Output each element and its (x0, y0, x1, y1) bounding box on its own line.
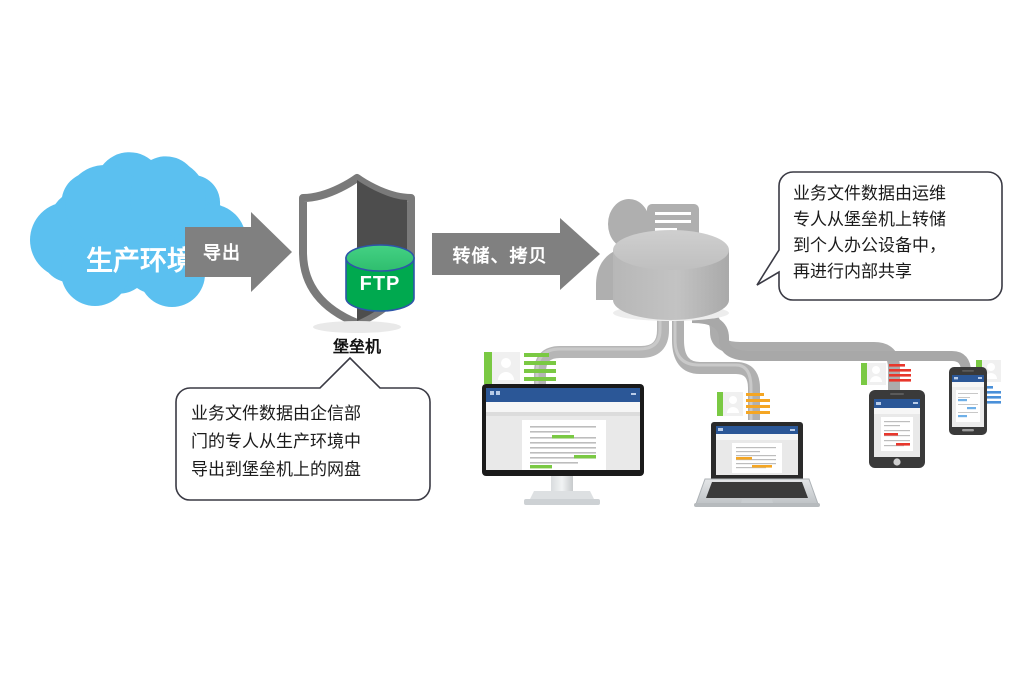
ftp-cylinder: FTP (346, 245, 414, 311)
bastion-host-group: FTP 堡垒机 (303, 178, 414, 356)
callout-export-line-3: 导出到堡垒机上的网盘 (191, 460, 361, 479)
callout-share-line-2: 专人从堡垒机上转储 (793, 210, 946, 229)
callout-export: 业务文件数据由企信部 门的专人从生产环境中 导出到堡垒机上的网盘 (176, 358, 430, 500)
cloud-label: 生产环境 (86, 246, 194, 276)
diagram-canvas: 生产环境 导出 FTP 堡垒机 转储、拷贝 (0, 0, 1015, 675)
smartphone (949, 360, 1001, 435)
callout-share-line-3: 到个人办公设备中， (793, 236, 946, 255)
export-arrow-label: 导出 (203, 242, 241, 263)
desktop-monitor (482, 352, 644, 505)
contact-card-icon-red (861, 363, 911, 385)
callout-share-line-1: 业务文件数据由运维 (793, 184, 946, 203)
transfer-arrow: 转储、拷贝 (432, 218, 600, 290)
bastion-host-label: 堡垒机 (333, 337, 381, 356)
callout-share-line-4: 再进行内部共享 (793, 262, 912, 281)
callout-export-line-2: 门的专人从生产环境中 (191, 432, 361, 451)
callout-export-line-1: 业务文件数据由企信部 (191, 404, 361, 423)
share-hub-cylinder (613, 230, 729, 321)
transfer-arrow-label: 转储、拷贝 (453, 245, 548, 266)
callout-share: 业务文件数据由运维 专人从堡垒机上转储 到个人办公设备中， 再进行内部共享 (757, 172, 1002, 300)
contact-card-icon-orange (717, 392, 770, 416)
ftp-label: FTP (360, 273, 401, 295)
